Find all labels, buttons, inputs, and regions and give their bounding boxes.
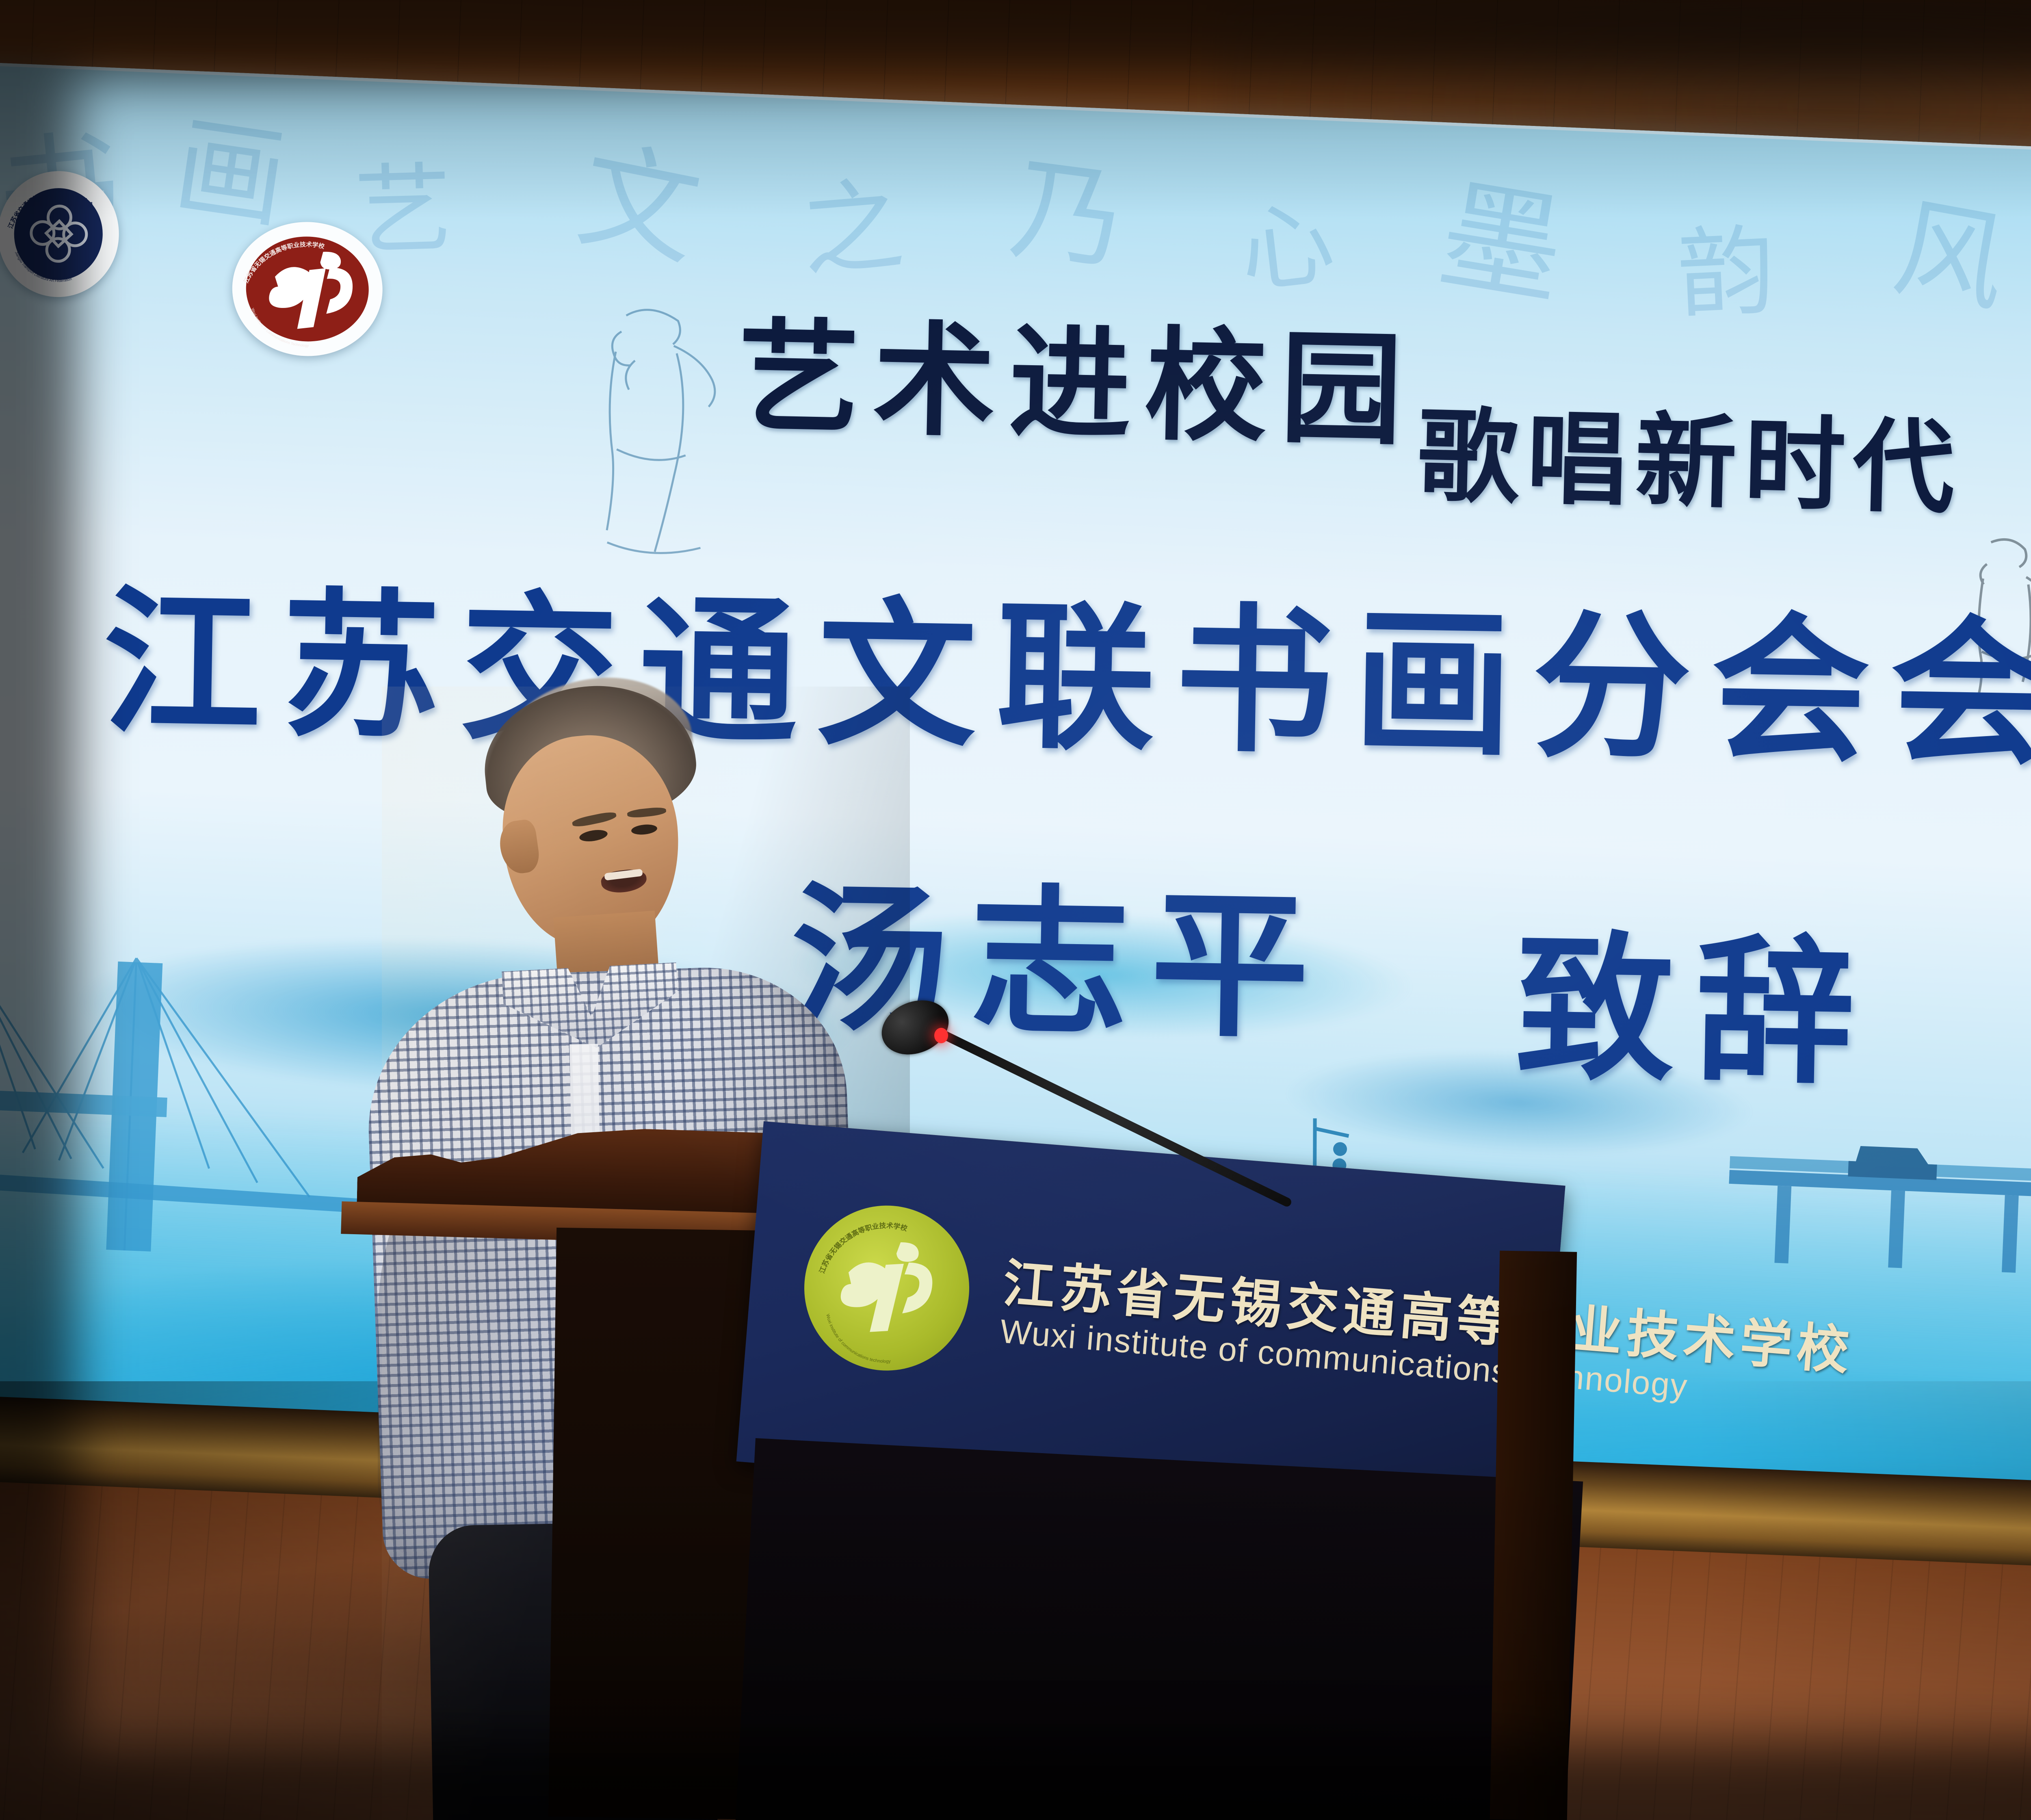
headline-left-calligraphy: 艺术进校园: [736, 279, 1418, 468]
watermark-stroke: 文: [567, 99, 716, 290]
main-title-action: 致辞: [1514, 880, 1878, 1115]
watermark-stroke: 之: [795, 142, 909, 297]
watermark-stroke: 韵: [1674, 192, 1778, 337]
podium-logo-jd-monogram: [829, 1232, 943, 1342]
podium-lower-shadow: [735, 1438, 1583, 1820]
podium: 江苏省无锡交通高等职业技术学校 Wuxi institute of commun…: [357, 1129, 1560, 1820]
screenshot-root: 书 画 艺 文 之 乃 心 墨 韵 风 雅 颂 艺 心: [0, 0, 2031, 1820]
logo-knot-emblem: [27, 201, 91, 266]
watermark-stroke: 乃: [1003, 116, 1137, 294]
watermark-stroke: 风: [1884, 158, 2021, 334]
scholar-line-sketch-icon: [530, 279, 753, 572]
wuxi-institute-logo-olive: 江苏省无锡交通高等职业技术学校 Wuxi institute of commun…: [798, 1199, 975, 1377]
watermark-stroke: 墨: [1429, 136, 1578, 329]
jiangsu-transport-federation-logo: 江苏省交通运输系统文学艺术联合会 Jiangsu Transport Liter…: [0, 169, 121, 299]
podium-right-column: [1490, 1250, 1577, 1820]
logo-jd-monogram: [259, 245, 360, 334]
microphone-led-indicator: [934, 1028, 948, 1043]
cable-stayed-bridge-icon: [0, 827, 393, 1326]
headline-right-calligraphy: 歌唱新时代: [1416, 373, 1964, 533]
wuxi-institute-logo-red: 江苏省无锡交通高等职业技术学校 Wuxi Institute of Commun…: [230, 219, 385, 359]
